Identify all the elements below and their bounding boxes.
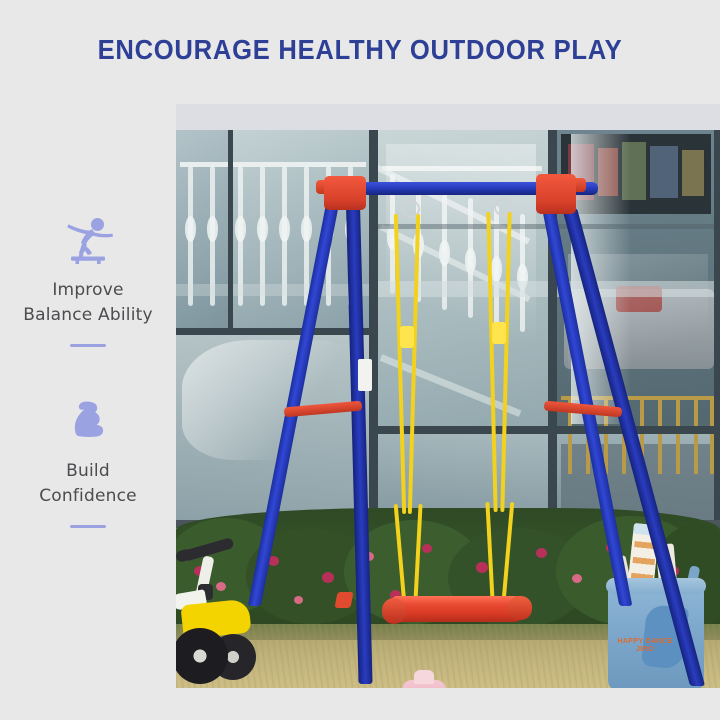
flower — [476, 562, 488, 573]
page-title: ENCOURAGE HEALTHY OUTDOOR PLAY — [25, 34, 695, 66]
interior-railing — [180, 162, 366, 167]
flower — [322, 572, 334, 583]
feature-divider — [70, 525, 106, 528]
glass-panel — [176, 130, 228, 330]
feature-label: Improve Balance Ability — [0, 278, 176, 328]
flower — [422, 544, 432, 553]
balance-beam-figure-icon — [0, 210, 176, 264]
swing-seat-end — [508, 596, 532, 620]
product-photo: HAPPY DANCE JIRO — [176, 104, 720, 688]
window-mullion — [714, 130, 720, 529]
flower — [572, 574, 582, 583]
glass-reflection — [182, 340, 352, 460]
flower — [294, 596, 303, 604]
feature-list: Improve Balance Ability Build Confidence — [0, 210, 176, 572]
sippy-cup-spout — [414, 670, 434, 684]
feature-build-confidence: Build Confidence — [0, 391, 176, 528]
flexed-bicep-icon — [0, 391, 176, 445]
leg-foot — [334, 592, 353, 608]
interior-item — [682, 150, 704, 196]
feature-divider — [70, 344, 106, 347]
window-mullion — [228, 130, 233, 330]
promo-page: ENCOURAGE HEALTHY OUTDOOR PLAY — [0, 0, 720, 720]
product-label-sticker — [358, 359, 372, 391]
feature-label: Build Confidence — [0, 459, 176, 509]
corner-connector-right — [536, 174, 576, 214]
corner-connector-left — [324, 176, 366, 210]
flower — [536, 548, 547, 558]
wall-band — [176, 104, 720, 130]
swing-seat-end — [382, 598, 406, 624]
feature-improve-balance-ability: Improve Balance Ability — [0, 210, 176, 347]
rope-adjuster — [400, 326, 414, 348]
swing-seat-edge — [392, 596, 520, 605]
rope-adjuster — [492, 322, 506, 344]
glass-band — [176, 284, 372, 296]
window-mullion — [376, 426, 720, 434]
interior-item — [650, 146, 678, 198]
window-mullion — [176, 328, 372, 335]
flower — [216, 582, 226, 591]
toy-bag-label: HAPPY DANCE JIRO — [614, 638, 676, 654]
